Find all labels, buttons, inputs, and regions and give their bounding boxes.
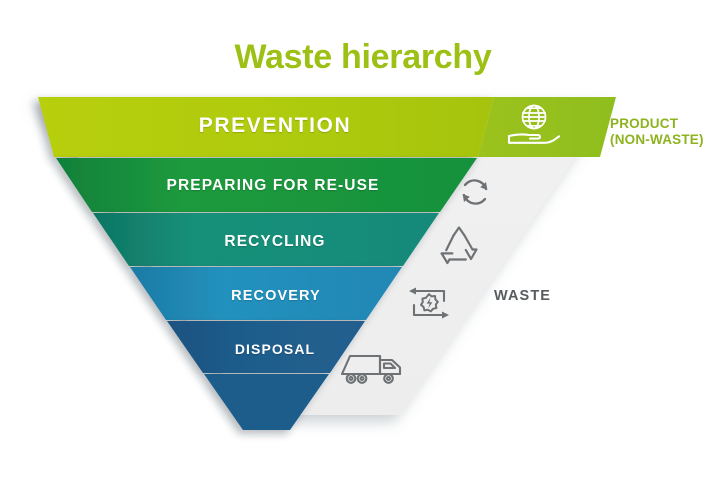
garbage-truck-icon: [340, 343, 406, 389]
recycle-icon: [437, 226, 481, 268]
globe-hand-icon: [505, 100, 563, 150]
band-label-recovery: RECOVERY: [165, 288, 387, 304]
band-label-prevention: PREVENTION: [70, 114, 480, 138]
band-label-recycling: RECYCLING: [140, 233, 410, 251]
category-label-waste: WASTE: [494, 288, 551, 304]
category-label-product: PRODUCT (NON-WASTE): [610, 116, 726, 148]
refresh-icon: [455, 172, 495, 212]
category-label-product-line2: (NON-WASTE): [610, 132, 726, 148]
category-label-product-line1: PRODUCT: [610, 116, 678, 131]
band-label-disposal: DISPOSAL: [190, 341, 360, 357]
waste-hierarchy-diagram: Waste hierarchy: [0, 0, 726, 484]
band-label-preparing-for-re-use: PREPARING FOR RE-USE: [108, 177, 438, 195]
energy-recovery-icon: [404, 281, 454, 325]
